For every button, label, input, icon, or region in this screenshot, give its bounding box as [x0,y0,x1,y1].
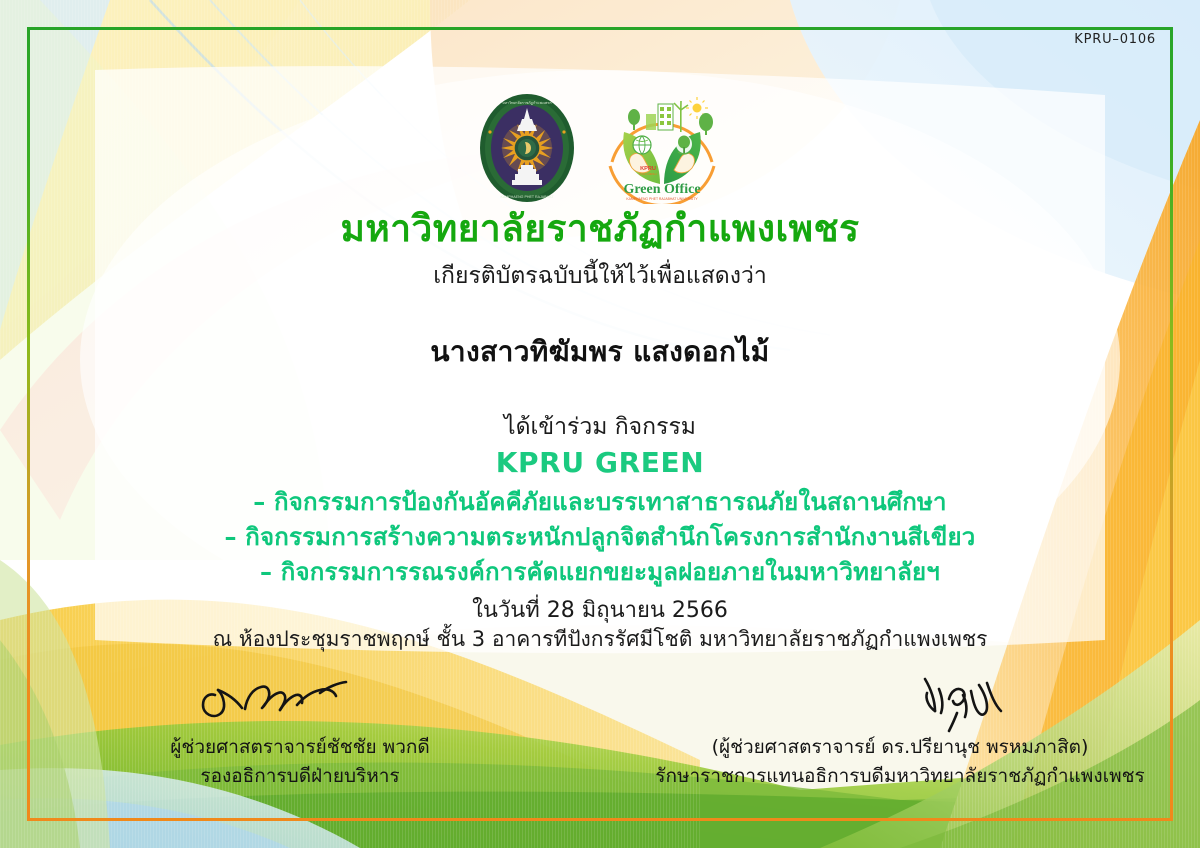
svg-text:KAMPHAENG PHET RAJABHAT UNIVER: KAMPHAENG PHET RAJABHAT UNIVERSITY [626,197,698,201]
document-code: KPRU–0106 [1074,32,1156,47]
signature-mark-right-icon [680,655,1200,733]
title-block: มหาวิทยาลัยราชภัฏกำแพงเพชร เกียรติบัตรฉบ… [0,206,1200,292]
signature-mark-left-icon [0,655,580,733]
svg-text:KAMPHAENG PHET RAJABHAT: KAMPHAENG PHET RAJABHAT [501,195,555,199]
activity-item: – กิจกรรมการสร้างความตระหนักปลูกจิตสำนึก… [0,520,1200,555]
recipient-name: นางสาวทิฆัมพร แสงดอกไม้ [0,330,1200,374]
activity-list: – กิจกรรมการป้องกันอัคคีภัยและบรรเทาสาธา… [0,485,1200,590]
signature-block-left: ผู้ช่วยศาสตราจารย์ชัชชัย พวกดี รองอธิการ… [0,655,600,792]
event-venue: ณ ห้องประชุมราชพฤกษ์ ชั้น 3 อาคารทีปังกร… [0,623,1200,656]
signatory-name-left: ผู้ช่วยศาสตราจารย์ชัชชัย พวกดี [0,733,600,762]
signatory-name-right: (ผู้ช่วยศาสตราจารย์ ดร.ปรียานุช พรหมภาสิ… [600,733,1200,762]
signatory-role-right: รักษาราชการแทนอธิการบดีมหาวิทยาลัยราชภัฏ… [600,762,1200,791]
activity-item: – กิจกรรมการป้องกันอัคคีภัยและบรรเทาสาธา… [0,485,1200,520]
logo-row: มหาวิทยาลัยราชภัฏกำแพงเพชร KAMPHAENG PHE… [0,92,1200,204]
green-office-wordmark: Green Office [623,182,700,197]
svg-text:KPRU: KPRU [640,166,656,172]
svg-text:สำนักงานสีเขียว: สำนักงานสีเขียว [639,172,658,176]
organization-title: มหาวิทยาลัยราชภัฏกำแพงเพชร [0,206,1200,252]
certificate-statement: เกียรติบัตรฉบับนี้ให้ไว้เพื่อแสดงว่า [0,262,1200,292]
participation-intro: ได้เข้าร่วม กิจกรรม [0,409,1200,445]
university-seal-icon: มหาวิทยาลัยราชภัฏกำแพงเพชร KAMPHAENG PHE… [478,92,576,204]
green-office-logo-icon: KPRU สำนักงานสีเขียว Green Office KAMPHA… [602,92,722,204]
signature-block-right: (ผู้ช่วยศาสตราจารย์ ดร.ปรียานุช พรหมภาสิ… [600,655,1200,792]
program-name: KPRU GREEN [0,446,1200,479]
signature-row: ผู้ช่วยศาสตราจารย์ชัชชัย พวกดี รองอธิการ… [0,655,1200,792]
activity-item: – กิจกรรมการรณรงค์การคัดแยกขยะมูลฝอยภายใ… [0,555,1200,590]
signatory-role-left: รองอธิการบดีฝ่ายบริหาร [0,762,600,791]
certificate: KPRU–0106 [0,0,1200,848]
event-date: ในวันที่ 28 มิถุนายน 2566 [0,592,1200,627]
svg-text:มหาวิทยาลัยราชภัฏกำแพงเพชร: มหาวิทยาลัยราชภัฏกำแพงเพชร [502,101,551,105]
